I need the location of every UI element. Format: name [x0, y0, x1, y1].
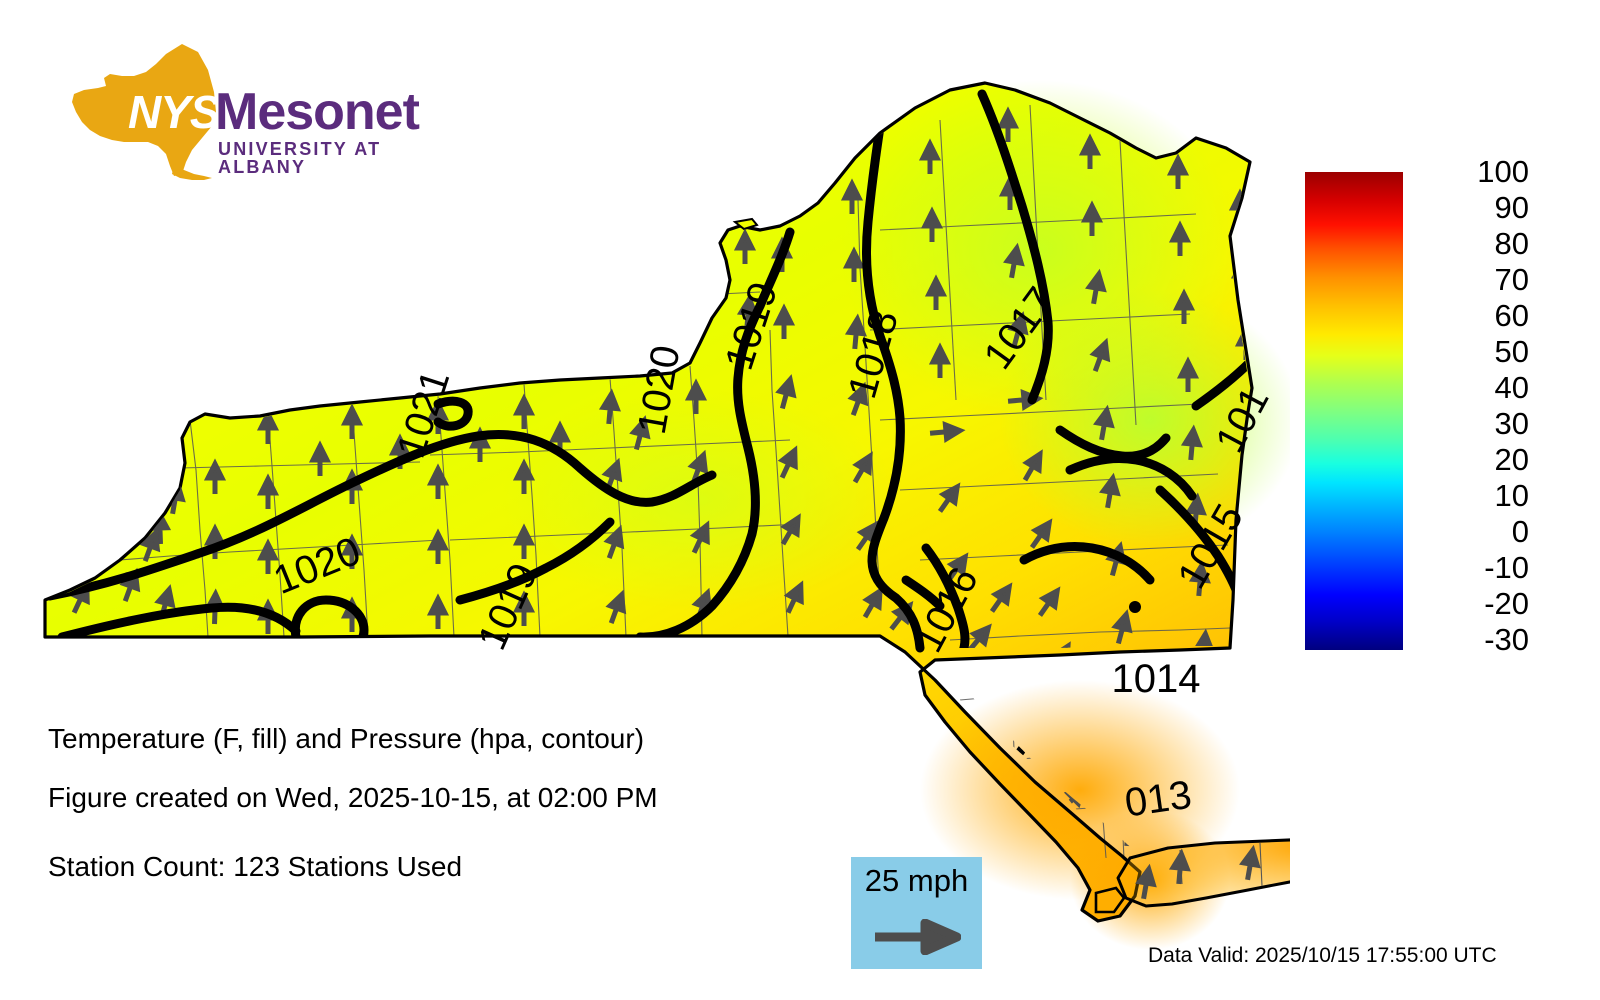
logo-mesonet-text: Mesonet [215, 86, 419, 138]
colorbar-tick-neg10: -10 [1413, 552, 1529, 584]
caption-station-count: Station Count: 123 Stations Used [48, 851, 462, 883]
colorbar-tick-neg20: -20 [1413, 588, 1529, 620]
colorbar-tick-40: 40 [1413, 372, 1529, 404]
colorbar-tick-70: 70 [1413, 264, 1529, 296]
caption-created: Figure created on Wed, 2025-10-15, at 02… [48, 782, 658, 814]
colorbar-gradient [1305, 172, 1403, 650]
ny-mainland-fill [45, 80, 1290, 950]
caption-variables: Temperature (F, fill) and Pressure (hpa,… [48, 723, 644, 755]
colorbar-tick-100: 100 [1413, 156, 1529, 188]
colorbar-tick-neg30: -30 [1413, 624, 1529, 656]
colorbar-tick-90: 90 [1413, 192, 1529, 224]
wind-arrow-icon [873, 919, 961, 955]
logo-nys-text: NYS [128, 89, 220, 135]
temperature-colorbar: 100 90 80 70 60 50 40 30 20 10 0 -10 -20… [1305, 172, 1585, 662]
data-valid-timestamp: Data Valid: 2025/10/15 17:55:00 UTC [1148, 944, 1497, 968]
wind-legend-label: 25 mph [851, 863, 982, 899]
colorbar-tick-labels: 100 90 80 70 60 50 40 30 20 10 0 -10 -20… [1413, 156, 1543, 666]
nys-mesonet-logo: NYS Mesonet UNIVERSITY AT ALBANY [52, 42, 412, 182]
colorbar-tick-80: 80 [1413, 228, 1529, 260]
logo-university-text: UNIVERSITY AT ALBANY [218, 140, 412, 176]
colorbar-tick-60: 60 [1413, 300, 1529, 332]
colorbar-tick-10: 10 [1413, 480, 1529, 512]
colorbar-tick-0: 0 [1413, 516, 1529, 548]
contour-label-1013: 013 [1122, 773, 1194, 826]
colorbar-tick-30: 30 [1413, 408, 1529, 440]
contour-label-1014: 1014 [1112, 657, 1201, 701]
station-dot [1129, 601, 1141, 613]
colorbar-tick-50: 50 [1413, 336, 1529, 368]
wind-speed-legend: 25 mph [851, 857, 982, 969]
colorbar-tick-20: 20 [1413, 444, 1529, 476]
